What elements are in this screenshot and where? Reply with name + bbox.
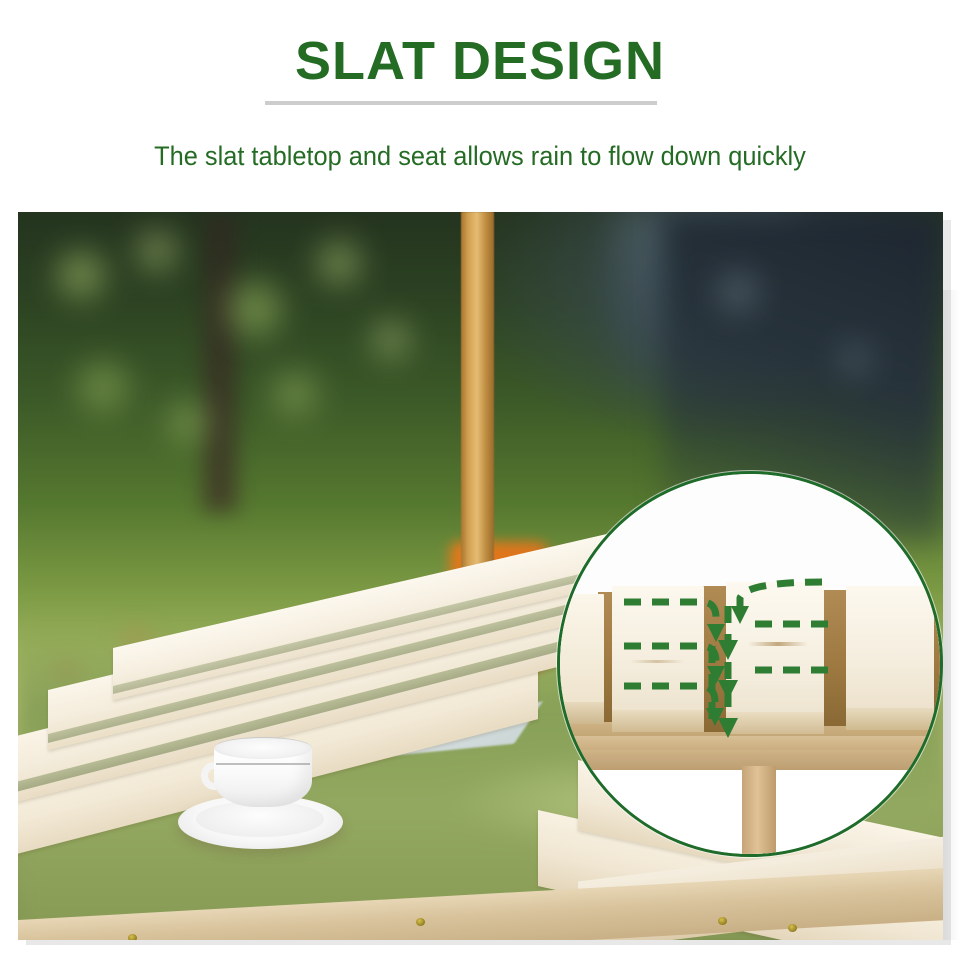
page-title: SLAT DESIGN (0, 30, 960, 92)
arrowhead-7 (718, 718, 738, 738)
screw-1 (128, 934, 137, 940)
page-subtitle: The slat tabletop and seat allows rain t… (29, 138, 931, 174)
teacup-rim (214, 737, 312, 759)
teacup-band (216, 763, 310, 765)
flow-path-left-mid (624, 646, 716, 674)
screw-3 (788, 924, 797, 932)
screw-4 (718, 917, 727, 925)
arrowhead-5 (718, 680, 738, 700)
arrowhead-3 (718, 640, 738, 660)
title-divider (265, 101, 657, 105)
header: SLAT DESIGN The slat tabletop and seat a… (0, 0, 960, 200)
magnifier-inset (557, 471, 943, 857)
product-photo (18, 212, 943, 940)
flow-path-left-low (624, 686, 715, 716)
screw-2 (416, 918, 425, 926)
arrowhead-2 (731, 606, 749, 624)
flow-path-right-top (740, 582, 822, 614)
photo-edge-shadow (943, 290, 960, 940)
flow-path-left-top (624, 602, 716, 634)
arrowhead-1 (707, 624, 725, 642)
product-feature-card: SLAT DESIGN The slat tabletop and seat a… (0, 0, 960, 960)
water-flow-annotation (560, 474, 943, 857)
